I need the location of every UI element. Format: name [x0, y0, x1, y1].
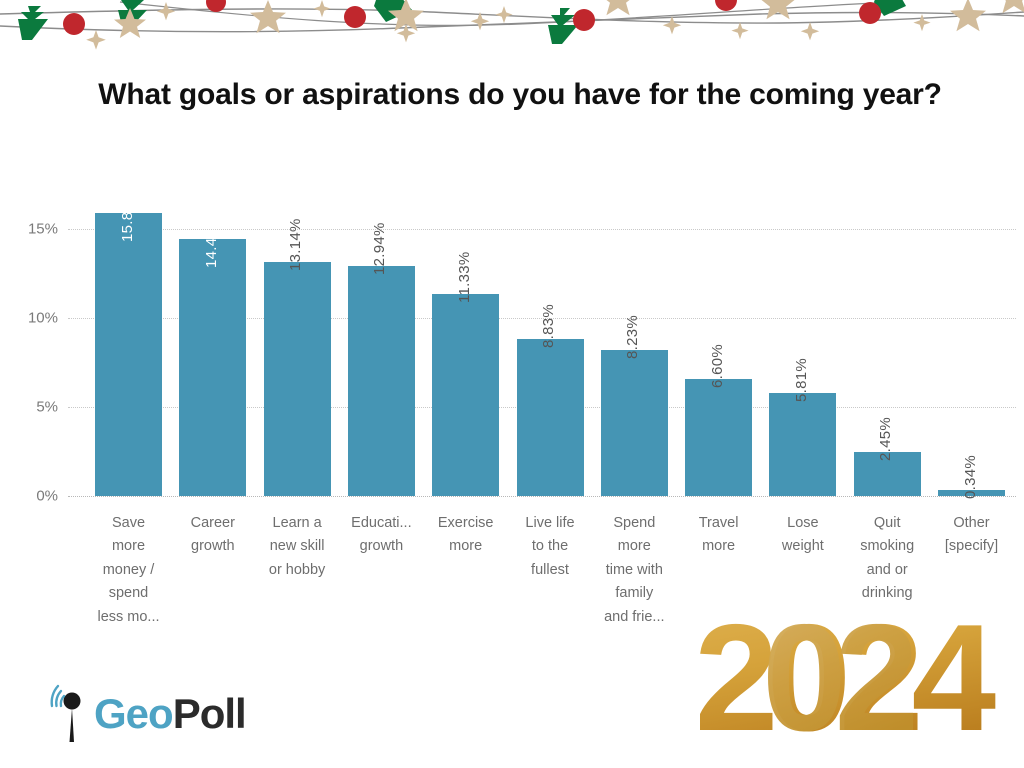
bar[interactable] — [685, 379, 752, 496]
category-label: Careergrowth — [171, 512, 254, 559]
category-label-line: fullest — [509, 559, 592, 582]
category-label-line: Spend — [593, 512, 676, 535]
category-label-line: and or — [846, 559, 929, 582]
category-label-line: smoking — [846, 535, 929, 558]
bar-value-label: 12.94% — [371, 222, 388, 275]
geopoll-wordmark: GeoPoll — [94, 693, 246, 735]
category-label-line: less mo... — [87, 606, 170, 629]
category-label-line: Educati... — [340, 512, 423, 535]
category-label-line: or hobby — [256, 559, 339, 582]
category-label-line: family — [593, 582, 676, 605]
category-label: Spendmoretime withfamilyand frie... — [593, 512, 676, 629]
festive-garland-banner — [0, 0, 1024, 58]
bar[interactable] — [432, 294, 499, 496]
geopoll-logo: GeoPoll — [48, 682, 258, 746]
bar-value-label: 2.45% — [877, 417, 894, 461]
category-label-line: drinking — [846, 582, 929, 605]
year-2024-svg: 2024 02 — [700, 608, 1018, 748]
bar[interactable] — [348, 266, 415, 496]
logo-text-poll: Poll — [173, 690, 246, 737]
antenna-signal-icon — [48, 684, 92, 744]
bar[interactable] — [95, 213, 162, 496]
category-label-line: more — [593, 535, 676, 558]
category-label: Educati...growth — [340, 512, 423, 559]
category-label: Travelmore — [677, 512, 760, 559]
bar-value-label: 14.44% — [203, 215, 220, 268]
category-label-line: time with — [593, 559, 676, 582]
category-label: Exercisemore — [424, 512, 507, 559]
bar[interactable] — [601, 350, 668, 496]
category-label-line: spend — [87, 582, 170, 605]
bar-value-label: 5.81% — [793, 358, 810, 402]
bar[interactable] — [517, 339, 584, 496]
bar-value-label: 0.34% — [962, 455, 979, 499]
category-label: Learn anew skillor hobby — [256, 512, 339, 582]
category-label-line: weight — [761, 535, 844, 558]
category-label: Savemoremoney /spendless mo... — [87, 512, 170, 629]
category-label: Other[specify] — [930, 512, 1013, 559]
category-label-line: Lose — [761, 512, 844, 535]
category-label-line: more — [424, 535, 507, 558]
category-label: Quitsmokingand ordrinking — [846, 512, 929, 606]
year-2024-graphic: 2024 02 — [700, 608, 1018, 748]
category-label-line: Exercise — [424, 512, 507, 535]
category-label-line: to the — [509, 535, 592, 558]
category-label: Loseweight — [761, 512, 844, 559]
category-label-line: Learn a — [256, 512, 339, 535]
category-label-line: [specify] — [930, 535, 1013, 558]
category-label-line: money / — [87, 559, 170, 582]
category-label: Live lifeto thefullest — [509, 512, 592, 582]
category-label-line: Save — [87, 512, 170, 535]
category-label-line: Other — [930, 512, 1013, 535]
category-label-line: Live life — [509, 512, 592, 535]
logo-text-geo: Geo — [94, 690, 173, 737]
bar-value-label: 8.23% — [624, 314, 641, 358]
category-label-line: growth — [340, 535, 423, 558]
bar[interactable] — [769, 393, 836, 496]
bar[interactable] — [179, 239, 246, 496]
category-label-line: new skill — [256, 535, 339, 558]
category-label-line: and frie... — [593, 606, 676, 629]
category-label-line: Travel — [677, 512, 760, 535]
bar-value-label: 11.33% — [456, 252, 473, 304]
garland-balls — [63, 0, 881, 35]
bar-value-label: 6.60% — [709, 343, 726, 387]
category-label-line: more — [677, 535, 760, 558]
category-label-line: Quit — [846, 512, 929, 535]
bar-value-label: 8.83% — [540, 304, 557, 348]
bar-value-label: 13.14% — [287, 218, 304, 271]
bar[interactable] — [264, 262, 331, 496]
category-label-line: Career — [171, 512, 254, 535]
bar-value-label: 15.89% — [119, 189, 136, 242]
svg-text:02: 02 — [762, 608, 914, 748]
category-label-line: growth — [171, 535, 254, 558]
category-label-line: more — [87, 535, 170, 558]
